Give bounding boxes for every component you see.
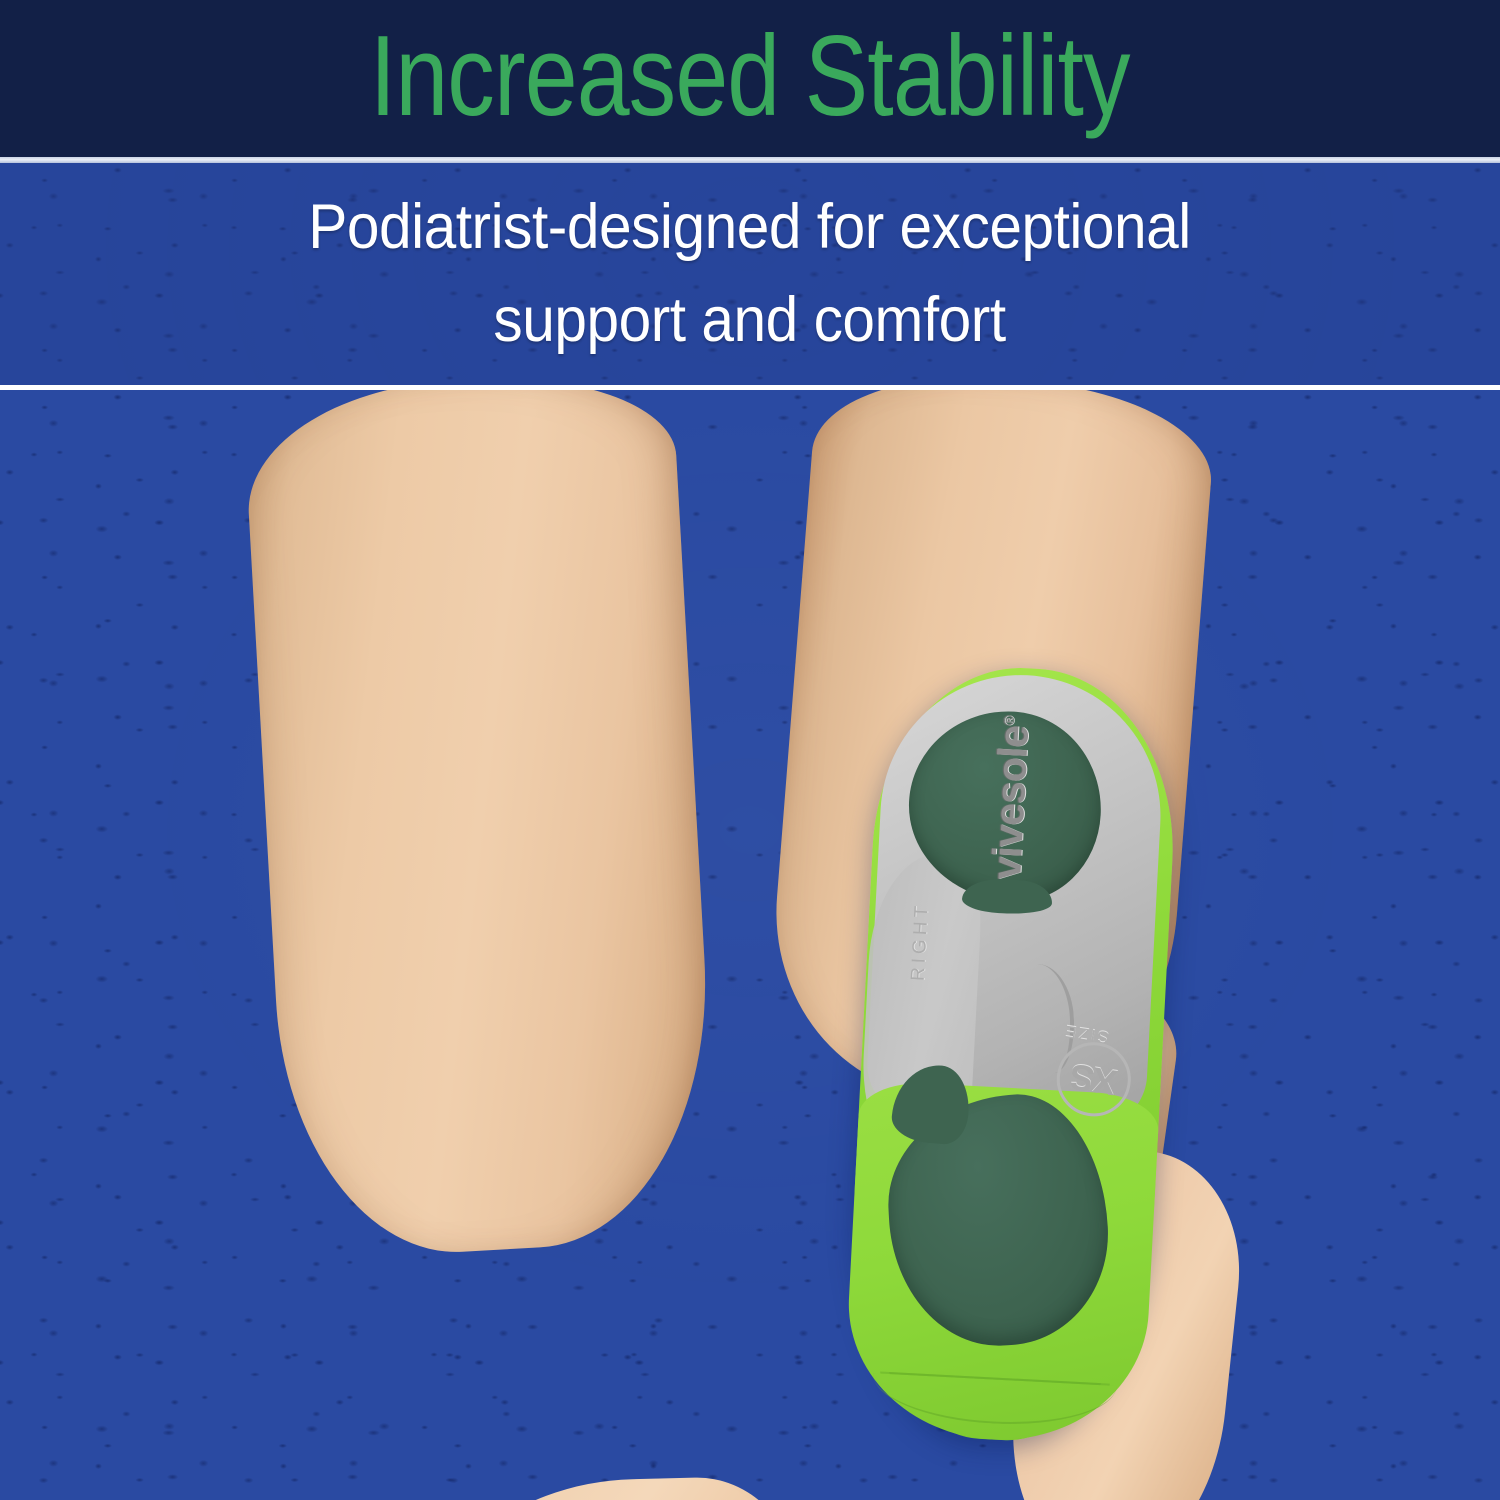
texture-overlay-photo bbox=[0, 390, 1500, 1500]
page-title: Increased Stability bbox=[370, 18, 1130, 139]
marketing-image: Increased Stability Podiatrist-designed … bbox=[0, 0, 1500, 1500]
texture-overlay-photo-light bbox=[0, 390, 1500, 1500]
header-band: Increased Stability bbox=[0, 0, 1500, 157]
brand-name: vivesole bbox=[983, 725, 1037, 881]
subtitle-divider bbox=[0, 385, 1500, 390]
foot-side-label: RIGHT bbox=[908, 901, 934, 981]
size-value: XS bbox=[1068, 1055, 1120, 1104]
registered-trademark-icon: ® bbox=[1001, 716, 1017, 726]
subtitle-band: Podiatrist-designed for exceptional supp… bbox=[0, 163, 1500, 385]
orthotic-insole: vivesole® RIGHT SIZE XS bbox=[842, 661, 1182, 1448]
standing-foot bbox=[406, 1475, 804, 1500]
brand-logo: vivesole® bbox=[983, 715, 1038, 880]
product-photo: vivesole® RIGHT SIZE XS bbox=[0, 390, 1500, 1500]
subtitle-text: Podiatrist-designed for exceptional supp… bbox=[309, 181, 1192, 367]
left-leg bbox=[242, 390, 720, 1261]
